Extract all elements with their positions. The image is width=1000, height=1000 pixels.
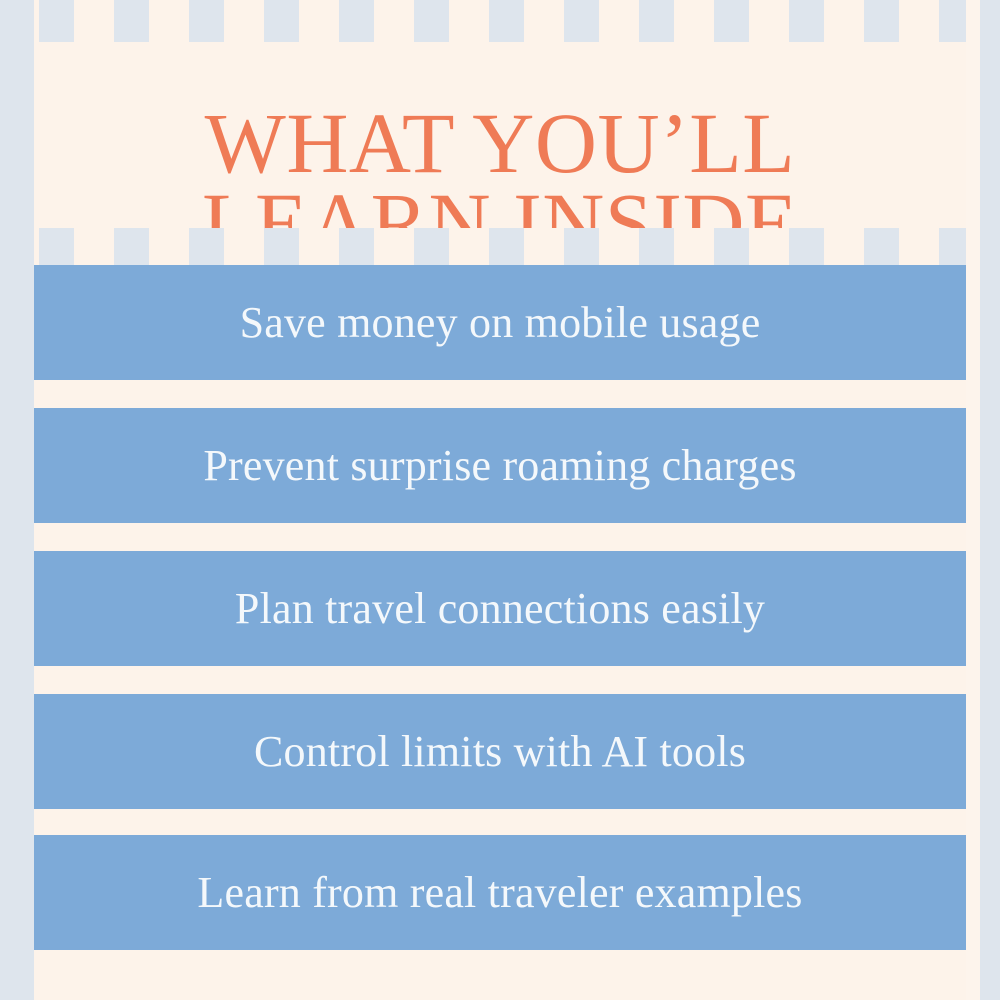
- list-item: Prevent surprise roaming charges: [34, 408, 966, 523]
- list-item-label: Plan travel connections easily: [235, 587, 765, 631]
- list-item: Plan travel connections easily: [34, 551, 966, 666]
- list-item-label: Learn from real traveler examples: [197, 871, 802, 915]
- list-item-label: Save money on mobile usage: [240, 301, 761, 345]
- list-item: Control limits with AI tools: [34, 694, 966, 809]
- top-stripe-band: [34, 0, 966, 42]
- list-item: Save money on mobile usage: [34, 265, 966, 380]
- list-item-label: Prevent surprise roaming charges: [203, 444, 796, 488]
- list-item: Learn from real traveler examples: [34, 835, 966, 950]
- poster-canvas: WHAT YOU’LL LEARN INSIDE Save money on m…: [0, 0, 1000, 1000]
- list-item-label: Control limits with AI tools: [254, 730, 746, 774]
- mid-stripe-band: [34, 228, 966, 265]
